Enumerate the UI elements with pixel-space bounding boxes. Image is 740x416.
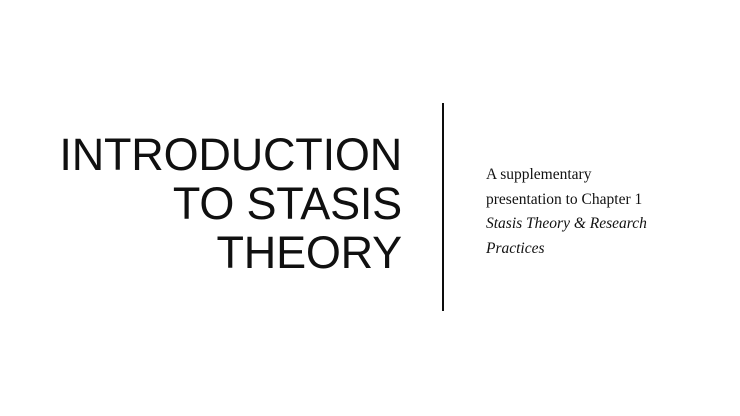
slide-title-line-3: THEORY xyxy=(40,228,402,277)
slide-subtitle-line-4: Practices xyxy=(486,237,686,262)
slide-subtitle: A supplementary presentation to Chapter … xyxy=(486,163,686,261)
slide-subtitle-line-2: presentation to Chapter 1 xyxy=(486,188,686,213)
slide-subtitle-line-1: A supplementary xyxy=(486,163,686,188)
vertical-divider-line xyxy=(442,103,444,311)
slide-title: INTRODUCTION TO STASIS THEORY xyxy=(40,130,402,277)
slide-title-line-2: TO STASIS xyxy=(40,179,402,228)
slide-title-line-1: INTRODUCTION xyxy=(40,130,402,179)
presentation-slide: INTRODUCTION TO STASIS THEORY A suppleme… xyxy=(0,0,740,416)
slide-subtitle-line-3: Stasis Theory & Research xyxy=(486,212,686,237)
